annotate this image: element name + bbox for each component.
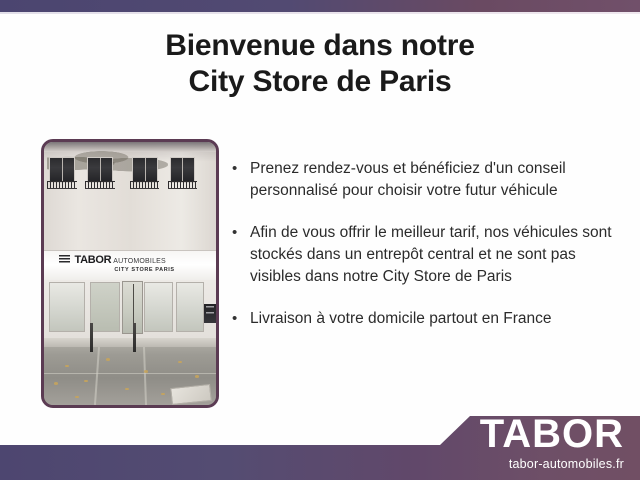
fallen-leaf: [178, 361, 182, 364]
pavement-slab-line: [94, 347, 100, 405]
pavement-kerb: [44, 338, 216, 347]
title-line-1: Bienvenue dans notre: [0, 28, 640, 64]
bullet-text: Afin de vous offrir le meilleur tarif, n…: [250, 222, 627, 288]
storefront-photo: TABOR AUTOMOBILES CITY STORE PARIS: [44, 142, 216, 405]
facade-window: [49, 157, 75, 182]
bullet-text: Livraison à votre domicile partout en Fr…: [250, 308, 627, 330]
slide-footer: TABOR tabor-automobiles.fr: [0, 408, 640, 480]
brand-logo-text: TABOR: [480, 414, 624, 454]
facade-window: [170, 157, 196, 182]
top-accent-hairline: [0, 12, 640, 14]
bullet-marker: •: [232, 222, 250, 244]
building-facade: [44, 142, 216, 252]
fallen-leaf: [54, 382, 58, 385]
bullet-list: • Prenez rendez-vous et bénéficiez d'un …: [232, 158, 627, 350]
stripes-icon: [59, 255, 70, 263]
street-bollard: [90, 323, 92, 352]
fallen-leaf: [125, 388, 129, 391]
fallen-leaf: [161, 393, 165, 396]
shop-sign-main-line: TABOR AUTOMOBILES: [59, 255, 203, 266]
brand-logo-wordmark: TABOR: [480, 414, 624, 454]
fallen-leaf: [84, 380, 88, 383]
pavement-slab-line: [143, 347, 147, 405]
balcony-railing: [85, 181, 114, 189]
title-line-2: City Store de Paris: [0, 64, 640, 100]
neighbouring-shop-panel: [204, 304, 216, 324]
shop-sign-subtitle: CITY STORE PARIS: [114, 268, 204, 274]
shop-window-glass: [176, 282, 204, 332]
fallen-leaf: [106, 358, 110, 361]
balcony-railing: [47, 181, 76, 189]
brand-logo: TABOR tabor-automobiles.fr: [480, 414, 624, 471]
balcony-railing: [130, 181, 159, 189]
street-pavement: [44, 338, 216, 405]
bullet-text: Prenez rendez-vous et bénéficiez d'un co…: [250, 158, 627, 202]
shop-window-glass: [49, 282, 85, 332]
shop-sign-brand-suffix: AUTOMOBILES: [113, 258, 166, 265]
list-item: • Prenez rendez-vous et bénéficiez d'un …: [232, 158, 627, 202]
pavement-slab-line: [44, 373, 216, 375]
bullet-marker: •: [232, 308, 250, 330]
slide-canvas: Bienvenue dans notre City Store de Paris: [0, 0, 640, 480]
storefront-photo-frame: TABOR AUTOMOBILES CITY STORE PARIS: [41, 139, 219, 408]
brand-logo-url: tabor-automobiles.fr: [480, 458, 624, 471]
shop-sign-brand: TABOR: [74, 255, 111, 266]
street-bollard: [133, 323, 135, 352]
storefront-glazing: [44, 280, 216, 338]
fallen-leaf: [195, 375, 199, 378]
balcony-railing: [168, 181, 197, 189]
facade-window: [87, 157, 113, 182]
bullet-marker: •: [232, 158, 250, 180]
top-accent-bar: [0, 0, 640, 12]
fallen-leaf: [144, 370, 148, 373]
shop-window-glass: [90, 282, 119, 332]
shop-sign-band: TABOR AUTOMOBILES CITY STORE PARIS: [44, 250, 216, 282]
list-item: • Afin de vous offrir le meilleur tarif,…: [232, 222, 627, 288]
list-item: • Livraison à votre domicile partout en …: [232, 308, 627, 330]
facade-window: [132, 157, 158, 182]
shop-sign-content: TABOR AUTOMOBILES CITY STORE PARIS: [59, 255, 203, 274]
page-title: Bienvenue dans notre City Store de Paris: [0, 28, 640, 100]
pavement-stone-block: [170, 384, 211, 405]
fallen-leaf: [75, 396, 79, 399]
fallen-leaf: [65, 365, 69, 368]
shop-window-glass: [144, 282, 173, 332]
